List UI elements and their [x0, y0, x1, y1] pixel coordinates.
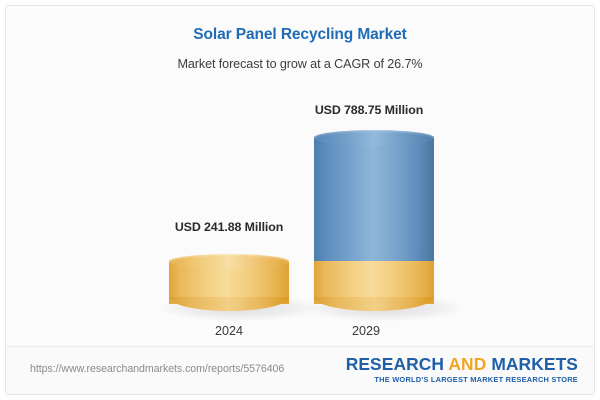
segment-bottom-cap: [169, 297, 289, 311]
chart-card: Solar Panel Recycling Market Market fore…: [5, 5, 595, 395]
research-and-markets-logo[interactable]: RESEARCH AND MARKETS THE WORLD'S LARGEST…: [346, 355, 578, 385]
logo-wordmark: RESEARCH AND MARKETS: [346, 355, 578, 374]
cylinder-segment-2029-growth: [314, 130, 434, 261]
value-label-2024: USD 241.88 Million: [124, 220, 334, 234]
cylinder-segment-2029-base: [314, 254, 434, 311]
plot-area: USD 241.88 Million USD 788.75 Million 20…: [6, 6, 595, 354]
report-url-link[interactable]: https://www.researchandmarkets.com/repor…: [30, 363, 284, 375]
segment-body: [314, 137, 434, 261]
footer: https://www.researchandmarkets.com/repor…: [6, 346, 595, 394]
cylinder-segment-2024-base: [169, 254, 289, 311]
segment-bottom-cap: [314, 297, 434, 311]
logo-tagline: THE WORLD'S LARGEST MARKET RESEARCH STOR…: [346, 375, 578, 385]
logo-word-research: RESEARCH: [346, 354, 444, 374]
logo-word-markets: MARKETS: [491, 354, 578, 374]
segment-top-cap: [169, 254, 289, 269]
value-label-2029: USD 788.75 Million: [264, 103, 474, 117]
category-label-2024: 2024: [169, 324, 289, 338]
cylinder-2024: [169, 254, 289, 311]
logo-word-and: AND: [448, 354, 486, 374]
category-label-2029: 2029: [306, 324, 426, 338]
segment-top-cap: [314, 130, 434, 145]
